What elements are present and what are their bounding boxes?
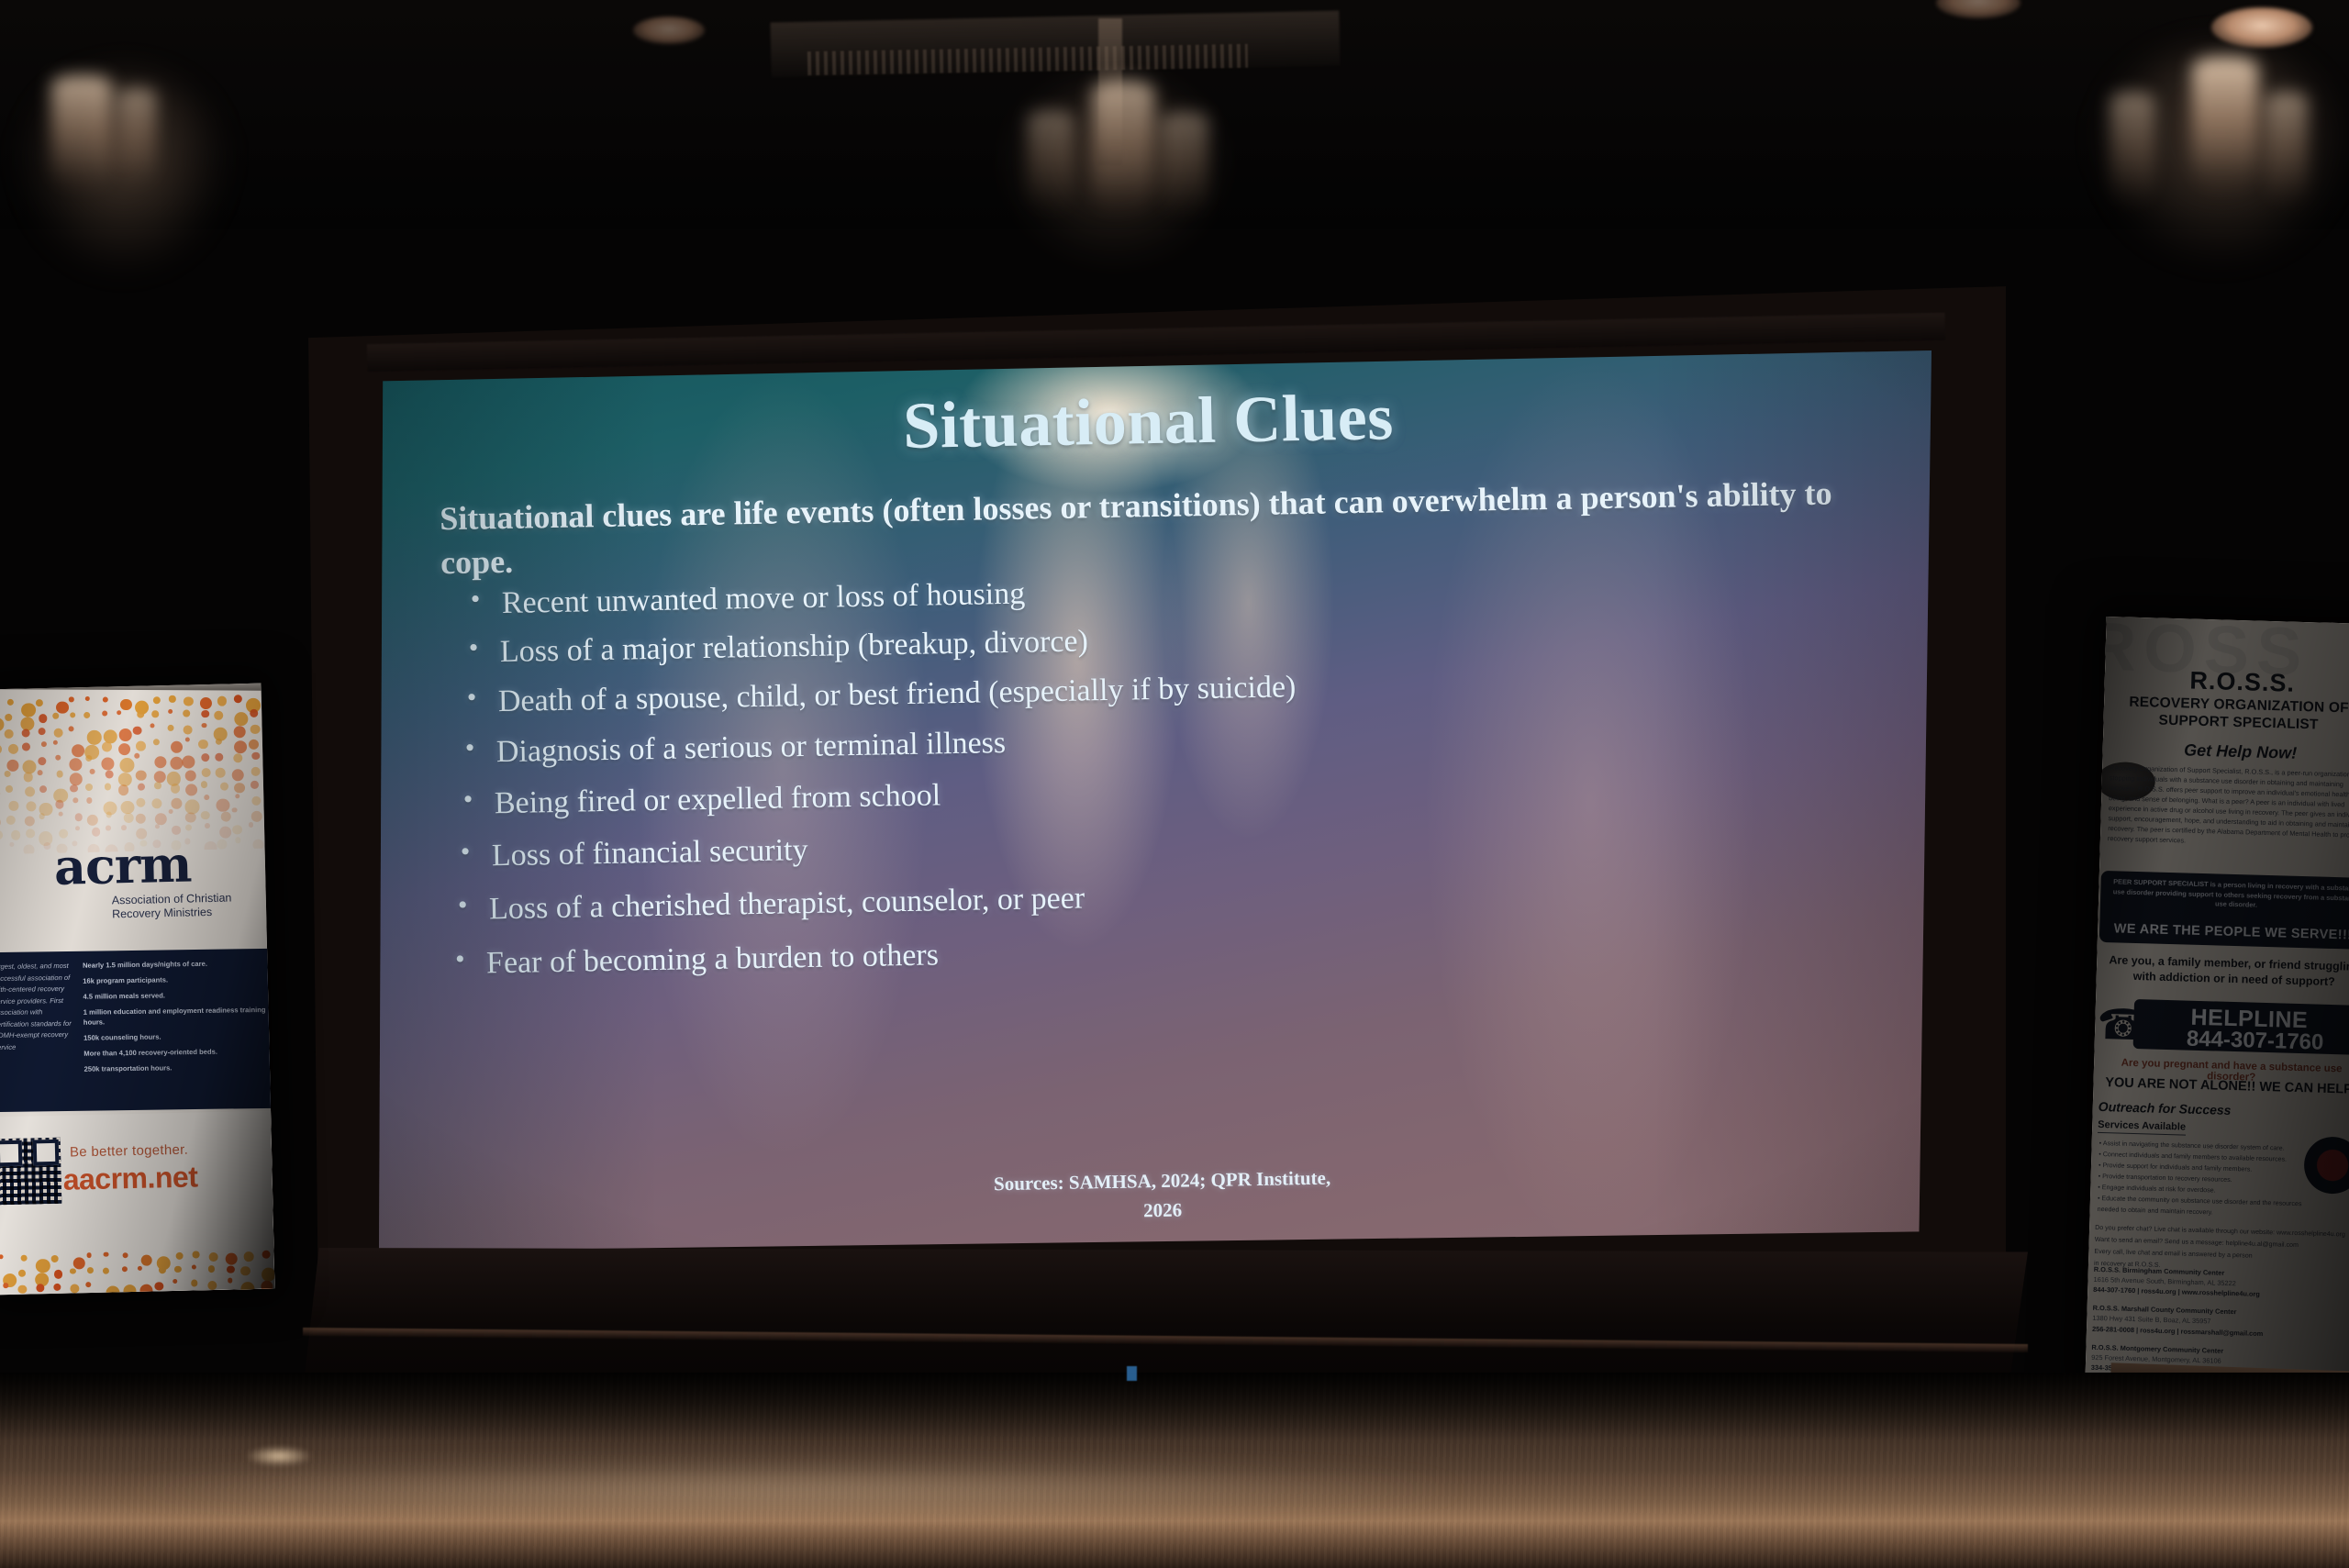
- decorative-dot: [120, 699, 132, 711]
- decorative-dot: [249, 739, 260, 750]
- decorative-dot: [154, 756, 166, 768]
- decorative-dot: [85, 1282, 91, 1287]
- helpline-number: 844-307-1760: [2187, 1027, 2324, 1056]
- decorative-dot: [74, 813, 83, 821]
- decorative-dot: [124, 813, 134, 823]
- decorative-dot: [226, 1253, 238, 1265]
- decorative-dot: [155, 1282, 164, 1291]
- decorative-dot: [215, 738, 222, 745]
- decorative-dot: [36, 1284, 44, 1292]
- list-item: Educate the community on substance use d…: [2098, 1193, 2308, 1220]
- decorative-dot: [35, 699, 42, 706]
- decorative-dot: [84, 696, 89, 701]
- decorative-dot: [83, 712, 90, 718]
- decorative-dot: [38, 770, 43, 775]
- decorative-dot: [154, 782, 161, 789]
- ceiling-can-light-center: [633, 17, 705, 44]
- stage-light-pool: [110, 1461, 1468, 1518]
- decorative-dot: [54, 1270, 63, 1279]
- ross-slogan: WE ARE THE PEOPLE WE SERVE!!!!: [2099, 921, 2349, 943]
- list-item: 150k counseling hours.: [83, 1030, 267, 1043]
- decorative-dot: [106, 770, 114, 778]
- decorative-dot: [17, 1284, 27, 1294]
- decorative-dot: [167, 724, 173, 730]
- decorative-dot: [184, 710, 191, 717]
- decorative-dot: [118, 742, 131, 755]
- decorative-dot: [38, 757, 46, 765]
- slide-title: Situational Clues: [379, 370, 1925, 474]
- decorative-dot: [204, 795, 209, 800]
- decorative-dot: [55, 755, 61, 761]
- decorative-dot: [207, 1265, 215, 1273]
- acrm-stats-band: largest, oldest, and most successful ass…: [0, 949, 274, 1112]
- list-item: Loss of financial security: [455, 815, 1905, 873]
- decorative-dot: [227, 1265, 235, 1273]
- decorative-dot: [193, 1251, 200, 1259]
- decorative-dot: [217, 798, 230, 812]
- decorative-dot: [11, 830, 21, 840]
- spotlight-beam-icon: [51, 75, 112, 195]
- decorative-dot: [232, 825, 242, 835]
- ross-cta: Get Help Now!: [2102, 739, 2349, 765]
- decorative-dot: [249, 822, 254, 828]
- decorative-dot: [191, 1280, 197, 1286]
- decorative-dot: [182, 756, 195, 769]
- ross-services-title: Services Available: [2098, 1119, 2186, 1136]
- decorative-dot: [20, 1255, 27, 1262]
- decorative-dot: [121, 825, 127, 830]
- decorative-dot: [56, 701, 69, 714]
- decorative-dot: [232, 769, 245, 782]
- decorative-dot: [251, 811, 262, 822]
- list-item: 4.5 million meals served.: [83, 989, 266, 1002]
- decorative-dot: [102, 711, 107, 717]
- spotlight-beam-icon: [2110, 92, 2154, 211]
- decorative-dot: [235, 794, 240, 799]
- decorative-dot: [87, 1267, 94, 1273]
- decorative-dot: [201, 811, 210, 820]
- decorative-dot: [214, 710, 224, 720]
- decorative-dot: [26, 829, 35, 839]
- decorative-dot: [169, 695, 176, 703]
- decorative-dot: [85, 754, 92, 761]
- spotlight-beam-icon: [117, 88, 156, 191]
- decorative-dot: [152, 798, 162, 808]
- decorative-dot: [70, 1284, 79, 1293]
- decorative-dot: [228, 1278, 233, 1284]
- decorative-dot: [191, 1264, 195, 1269]
- ross-question: Are you, a family member, or friend stru…: [2100, 952, 2349, 991]
- decorative-dot: [70, 1268, 76, 1274]
- decorative-dot: [121, 801, 135, 815]
- decorative-dot: [68, 726, 73, 731]
- decorative-dot: [22, 742, 30, 751]
- decorative-dot: [85, 784, 93, 791]
- list-item: 1 million education and employment readi…: [83, 1005, 267, 1028]
- list-item: Being fired or expelled from school: [458, 762, 1904, 820]
- decorative-dot: [202, 723, 207, 728]
- decorative-dot: [262, 1267, 274, 1281]
- decorative-dot: [201, 710, 209, 718]
- decorative-dot: [150, 724, 155, 728]
- decorative-dot: [185, 812, 196, 823]
- decorative-dot: [101, 758, 114, 771]
- decorative-dot: [103, 1267, 109, 1273]
- list-item: 250k transportation hours.: [84, 1062, 268, 1074]
- decorative-dot: [5, 714, 12, 721]
- ross-banner: ROSS R.O.S.S. RECOVERY ORGANIZATION OF S…: [2085, 617, 2349, 1391]
- decorative-dot: [90, 768, 95, 773]
- decorative-dot: [70, 773, 83, 785]
- decorative-dot: [121, 1266, 127, 1272]
- decorative-dot: [6, 816, 15, 825]
- decorative-dot: [153, 696, 161, 704]
- decorative-dot: [232, 808, 237, 813]
- ross-outreach-title: Outreach for Success: [2099, 1099, 2232, 1118]
- decorative-dot: [55, 800, 64, 809]
- qr-code-icon: [0, 1138, 61, 1206]
- decorative-dot: [220, 811, 231, 822]
- decorative-dot: [50, 1254, 58, 1262]
- decorative-dot: [70, 712, 76, 718]
- decorative-dot: [184, 770, 196, 782]
- decorative-dot: [215, 753, 224, 762]
- list-item: 16k program participants.: [83, 973, 266, 986]
- decorative-dot: [6, 699, 13, 706]
- decorative-dot: [233, 726, 245, 738]
- decorative-dot: [250, 724, 261, 734]
- decorative-dot: [117, 710, 121, 715]
- list-item: R.O.S.S. Marshall County Community Cente…: [2092, 1303, 2349, 1340]
- ross-definition-band: PEER SUPPORT SPECIALIST is a person livi…: [2099, 871, 2349, 950]
- decorative-dot: [171, 798, 182, 809]
- decorative-dot: [250, 767, 261, 777]
- decorative-dot: [25, 816, 36, 827]
- decorative-dot: [170, 756, 183, 769]
- acrm-banner: acrm Association of Christian Recovery M…: [0, 684, 274, 1296]
- decorative-dot: [136, 813, 147, 824]
- list-item: R.O.S.S. Birmingham Community Center 161…: [2093, 1264, 2349, 1302]
- ross-full-name: RECOVERY ORGANIZATION OF SUPPORT SPECIAL…: [2098, 694, 2349, 736]
- presentation-slide: Situational Clues Situational clues are …: [379, 350, 1932, 1251]
- decorative-dot: [252, 840, 263, 851]
- stage-reflection: [246, 1446, 312, 1466]
- decorative-dot: [134, 753, 139, 759]
- decorative-dot: [0, 788, 1, 799]
- decorative-dot: [251, 795, 262, 806]
- decorative-dot: [120, 758, 135, 773]
- decorative-dot: [26, 801, 36, 811]
- ceiling-can-light-right: [2211, 7, 2312, 48]
- decorative-dot: [153, 739, 160, 745]
- stage-floor: [0, 1373, 2349, 1568]
- decorative-dot: [36, 1259, 50, 1273]
- decorative-dot: [219, 827, 231, 839]
- decorative-dot: [172, 826, 181, 835]
- decorative-dot: [137, 711, 144, 718]
- decorative-dot: [205, 823, 210, 828]
- decorative-dot: [106, 811, 112, 817]
- decorative-dot: [6, 760, 18, 772]
- decorative-dot: [53, 1284, 61, 1291]
- decorative-dot: [201, 768, 210, 777]
- acrm-logo: acrm Association of Christian Recovery M…: [9, 838, 250, 924]
- decorative-dot: [0, 830, 3, 840]
- decorative-dot: [86, 1252, 92, 1258]
- decorative-dot: [18, 1270, 26, 1277]
- decorative-dot: [171, 741, 183, 753]
- acrm-url: aacrm.net: [62, 1160, 197, 1196]
- decorative-dot: [158, 1266, 165, 1273]
- decorative-dot: [185, 824, 192, 830]
- decorative-dot: [39, 714, 48, 723]
- acrm-stats-list: Nearly 1.5 million days/nights of care. …: [83, 958, 268, 1080]
- decorative-dot: [184, 696, 194, 706]
- decorative-dot: [56, 770, 63, 777]
- decorative-dot: [119, 728, 132, 741]
- decorative-dot: [233, 753, 243, 763]
- decorative-dot: [105, 784, 112, 791]
- decorative-dot: [136, 798, 145, 807]
- decorative-dot: [173, 1279, 177, 1284]
- slide-source-citation: Sources: SAMHSA, 2024; QPR Institute, 20…: [385, 1151, 1932, 1240]
- list-item: Nearly 1.5 million days/nights of care.: [83, 958, 266, 971]
- decorative-dot: [208, 1252, 218, 1262]
- acrm-wordmark: acrm: [9, 838, 249, 893]
- decorative-dot: [216, 768, 226, 778]
- ross-services-list: Assist in navigating the substance use d…: [2098, 1138, 2309, 1221]
- decorative-dot: [23, 773, 33, 783]
- decorative-dot: [9, 801, 19, 811]
- acrm-sub-line-2: Recovery Ministries: [112, 905, 250, 922]
- decorative-dot: [155, 824, 161, 829]
- acrm-tagline: Be better together.: [70, 1142, 188, 1161]
- spotlight-beam-icon: [1161, 112, 1208, 220]
- ross-helpline-block: HELPLINE 844-307-1760: [2133, 999, 2349, 1055]
- decorative-dot: [154, 771, 166, 783]
- decorative-dot: [175, 1251, 183, 1259]
- decorative-dot: [0, 744, 3, 754]
- decorative-dot: [169, 809, 173, 814]
- decorative-dot: [39, 813, 45, 819]
- list-item: Loss of a cherished therapist, counselor…: [452, 868, 1906, 926]
- decorative-dot: [244, 1251, 254, 1262]
- decorative-dot: [198, 740, 208, 750]
- decorative-dot: [118, 784, 129, 795]
- decorative-dot: [53, 740, 59, 746]
- decorative-dot: [184, 784, 196, 796]
- decorative-dot: [234, 712, 248, 726]
- decorative-dot: [171, 784, 181, 794]
- decorative-dot: [174, 1266, 182, 1273]
- decorative-dot: [72, 744, 84, 757]
- decorative-dot: [234, 695, 242, 703]
- decorative-dot: [183, 725, 192, 734]
- decorative-dot: [41, 740, 47, 746]
- decorative-dot: [250, 709, 258, 717]
- decorative-dot: [250, 781, 259, 789]
- decorative-dot: [4, 1283, 9, 1288]
- decorative-dot: [21, 728, 29, 737]
- decorative-dot: [141, 1255, 153, 1267]
- decorative-dot: [201, 753, 210, 762]
- decorative-dot: [201, 781, 208, 788]
- decorative-dot: [39, 785, 48, 794]
- decorative-dot: [0, 1254, 4, 1259]
- spotlight-beam-icon: [1092, 81, 1154, 218]
- acrm-dot-pattern-bottom: [0, 1249, 274, 1296]
- ross-description: Recovery Organization of Support Special…: [2108, 763, 2349, 851]
- decorative-dot: [233, 740, 247, 754]
- stage-shadow: [0, 1373, 2349, 1440]
- decorative-dot: [138, 783, 146, 791]
- acrm-footer: Be better together. aacrm.net: [0, 1111, 274, 1296]
- decorative-dot: [8, 744, 18, 754]
- stage-blue-marker: [1127, 1366, 1137, 1381]
- decorative-dot: [87, 815, 99, 827]
- decorative-dot: [91, 828, 100, 837]
- spotlight-beam-icon: [1028, 110, 1074, 217]
- decorative-dot: [72, 797, 78, 803]
- projection-screen-surface: Situational Clues Situational clues are …: [379, 350, 1932, 1251]
- decorative-dot: [251, 751, 260, 760]
- decorative-dot: [4, 729, 13, 739]
- decorative-dot: [59, 812, 63, 817]
- list-item: Diagnosis of a serious or terminal illne…: [460, 711, 1903, 769]
- spotlight-beam-icon: [2192, 57, 2258, 196]
- ross-peer-definition: PEER SUPPORT SPECIALIST is a person livi…: [2110, 877, 2349, 914]
- heart-icon: [2303, 1136, 2349, 1195]
- slide-bullet-list: Recent unwanted move or loss of housing …: [452, 562, 1908, 980]
- decorative-dot: [6, 785, 13, 793]
- decorative-dot: [151, 710, 159, 717]
- list-item: Loss of a major relationship (breakup, d…: [463, 611, 1901, 669]
- decorative-dot: [69, 697, 74, 703]
- decorative-dot: [168, 709, 173, 714]
- decorative-dot: [200, 697, 212, 709]
- decorative-dot: [104, 1252, 108, 1257]
- decorative-dot: [0, 817, 1, 828]
- decorative-dot: [74, 826, 79, 830]
- decorative-dot: [234, 783, 245, 794]
- decorative-dot: [136, 741, 146, 751]
- decorative-dot: [25, 786, 36, 797]
- decorative-dot: [4, 771, 10, 777]
- acrm-about-text: largest, oldest, and most successful ass…: [0, 961, 74, 1053]
- acrm-dot-pattern: [0, 693, 265, 855]
- spotlight-beam-icon: [2266, 92, 2308, 209]
- decorative-dot: [138, 1265, 142, 1270]
- decorative-dot: [262, 1251, 270, 1259]
- list-item: More than 4,100 recovery-oriented beds.: [83, 1046, 267, 1059]
- projection-screen-apron: [275, 1248, 2028, 1387]
- decorative-dot: [133, 726, 142, 735]
- decorative-dot: [207, 1281, 217, 1290]
- list-item: Fear of becoming a burden to others: [450, 922, 1907, 980]
- decorative-dot: [102, 742, 112, 752]
- decorative-dot: [103, 696, 108, 702]
- decorative-dot: [0, 717, 4, 731]
- acrm-tagline-sub: Association of Christian Recovery Minist…: [11, 887, 250, 924]
- decorative-dot: [53, 712, 60, 718]
- decorative-dot: [21, 703, 36, 717]
- source-line-1: Sources: SAMHSA, 2024; QPR Institute,: [994, 1166, 1331, 1195]
- decorative-dot: [219, 782, 228, 791]
- decorative-dot: [217, 696, 227, 706]
- decorative-dot: [185, 737, 190, 741]
- decorative-dot: [69, 759, 82, 772]
- decorative-dot: [86, 797, 93, 804]
- decorative-dot: [53, 728, 62, 738]
- decorative-dot: [70, 784, 78, 793]
- decorative-dot: [122, 1252, 128, 1258]
- list-item: Death of a spouse, child, or best friend…: [462, 661, 1902, 718]
- decorative-dot: [106, 826, 111, 831]
- decorative-dot: [136, 770, 147, 781]
- decorative-dot: [38, 728, 45, 735]
- decorative-dot: [87, 730, 102, 745]
- decorative-dot: [240, 1266, 250, 1276]
